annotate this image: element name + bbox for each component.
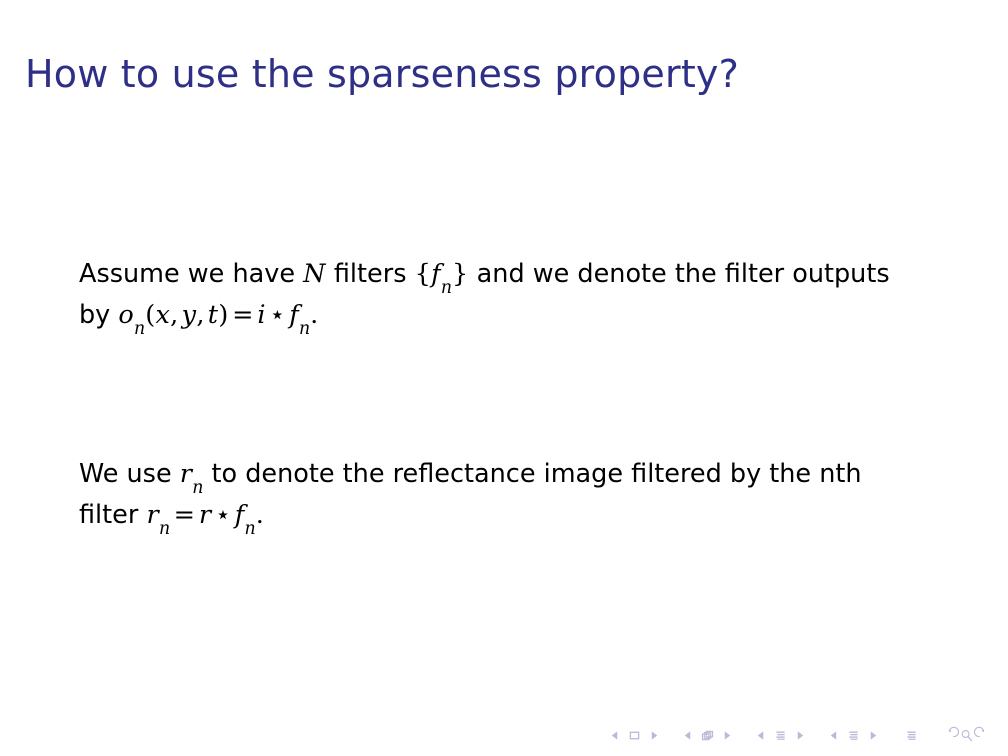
search-icon[interactable] [959,728,974,743]
paragraph-reflectance: We use rn to denote the reflectance imag… [79,454,917,536]
slide-square-icon[interactable] [627,728,642,743]
slide-body: Assume we have N filters {fn} and we den… [79,254,917,536]
back-arrow-icon[interactable] [942,728,957,743]
subsection-lines-icon[interactable] [773,728,788,743]
text-run: filters [326,259,415,289]
frame-navigation-group[interactable] [671,728,744,743]
math-set-filters: {fn} [415,259,469,289]
text-run: Assume we have [79,259,303,289]
slide-navigation-group[interactable] [598,728,671,743]
frame-stack-icon[interactable] [700,728,715,743]
previous-section-icon[interactable] [826,728,841,743]
text-run: We use [79,459,180,489]
previous-subsection-icon[interactable] [753,728,768,743]
math-variable-rn: rn [180,459,204,489]
previous-slide-icon[interactable] [607,728,622,743]
next-slide-icon[interactable] [647,728,662,743]
section-navigation-group[interactable] [817,728,890,743]
section-lines-icon[interactable] [846,728,861,743]
presentation-slide: How to use the sparseness property? Assu… [0,0,1008,756]
forward-arrow-icon[interactable] [976,728,991,743]
next-subsection-icon[interactable] [793,728,808,743]
math-filter-output-equation: on(x,y,t)=i⋆fn. [118,300,318,330]
math-variable-N: N [303,259,326,289]
presentation-navigation-group[interactable] [890,728,933,743]
page-title: How to use the sparseness property? [25,53,965,97]
math-reflectance-equation: rn=r⋆fn. [146,500,264,530]
beamer-navigation-bar[interactable] [598,722,1000,748]
subsection-navigation-group[interactable] [744,728,817,743]
presentation-lines-icon[interactable] [904,728,919,743]
next-section-icon[interactable] [866,728,881,743]
paragraph-filters: Assume we have N filters {fn} and we den… [79,254,917,336]
previous-frame-icon[interactable] [680,728,695,743]
next-frame-icon[interactable] [720,728,735,743]
utility-navigation-group[interactable] [933,728,1000,743]
